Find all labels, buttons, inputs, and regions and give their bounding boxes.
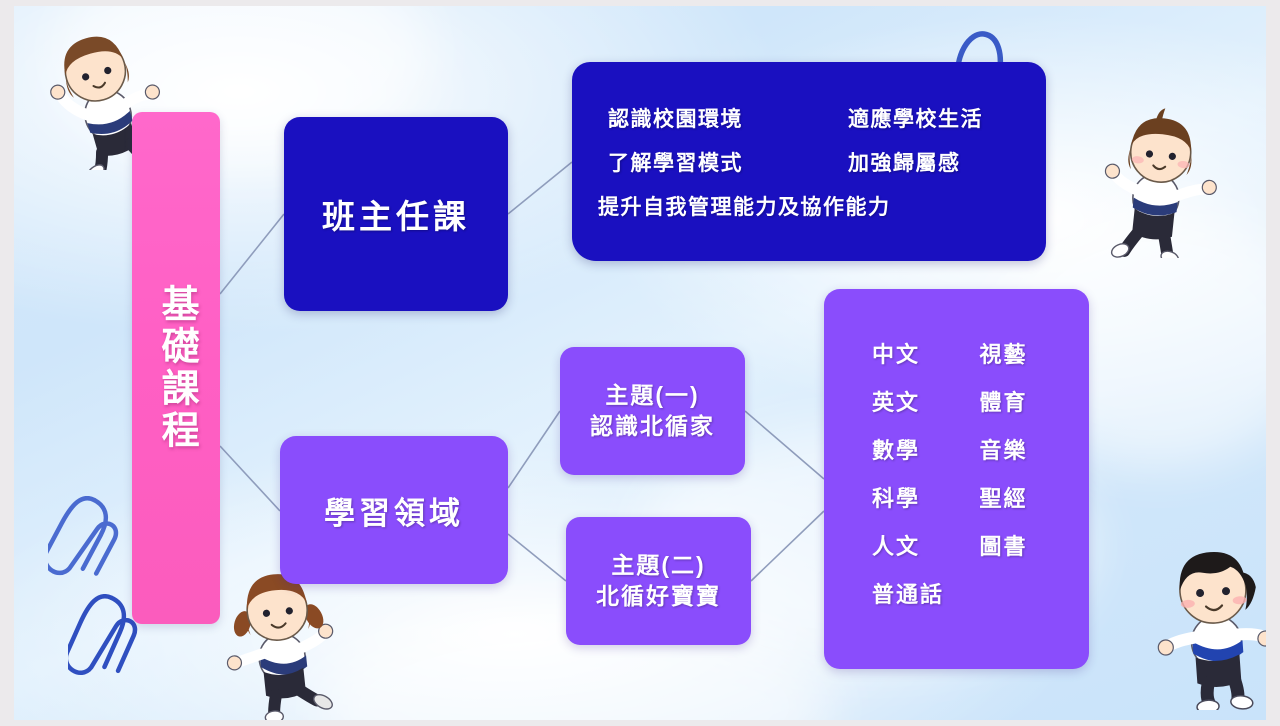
subject-row: 中文 視藝 bbox=[850, 337, 1063, 369]
homeroom-class-label: 班主任課 bbox=[322, 190, 470, 238]
subject-item: 中文 bbox=[850, 337, 956, 369]
objective-row-wide: 提升自我管理能力及協作能力 bbox=[578, 191, 1040, 221]
connector-root-to-homeroom bbox=[220, 214, 284, 294]
kid-boy-bottom-right bbox=[1152, 530, 1266, 710]
homeroom-objectives-panel[interactable]: 認識校園環境 適應學校生活 了解學習模式 加強歸屬感 提升自我管理能力及協作能力 bbox=[572, 62, 1046, 261]
subject-item: 數學 bbox=[850, 433, 956, 465]
subject-item: 人文 bbox=[850, 529, 956, 561]
objective-item: 認識校園環境 bbox=[588, 103, 848, 133]
objective-item: 加強歸屬感 bbox=[848, 147, 1030, 177]
subject-row: 英文 體育 bbox=[850, 385, 1063, 417]
subject-item: 聖經 bbox=[956, 481, 1064, 513]
subject-item: 普通話 bbox=[850, 577, 956, 609]
subjects-panel[interactable]: 中文 視藝 英文 體育 數學 音樂 科學 聖經 人文 圖書 普通話 bbox=[824, 289, 1089, 669]
connector-learning-to-theme1 bbox=[508, 411, 560, 488]
subject-item: 音樂 bbox=[956, 433, 1064, 465]
root-node-foundation-curriculum[interactable]: 基礎課程 bbox=[132, 112, 220, 624]
subject-row: 普通話 bbox=[850, 577, 1063, 609]
subject-item: 視藝 bbox=[956, 337, 1064, 369]
theme-two-subtitle: 北循好寶寶 bbox=[596, 581, 721, 612]
paperclip-left-upper-icon bbox=[48, 496, 126, 596]
subject-item: 體育 bbox=[956, 385, 1064, 417]
learning-areas-label: 學習領域 bbox=[324, 488, 464, 533]
connector-theme1-to-subjects bbox=[745, 411, 824, 479]
subject-row: 科學 聖經 bbox=[850, 481, 1063, 513]
connector-root-to-learning bbox=[220, 446, 280, 511]
connector-learning-to-theme2 bbox=[508, 534, 566, 581]
theme-one-subtitle: 認識北循家 bbox=[590, 411, 715, 442]
subject-item: 圖書 bbox=[956, 529, 1064, 561]
theme-one-heading: 主題(一) bbox=[605, 380, 699, 411]
slide-canvas: 基礎課程 班主任課 認識校園環境 適應學校生活 了解學習模式 加強歸屬感 提升自… bbox=[14, 6, 1266, 720]
subject-row: 人文 圖書 bbox=[850, 529, 1063, 561]
objective-item: 了解學習模式 bbox=[588, 147, 848, 177]
learning-areas-node[interactable]: 學習領域 bbox=[280, 436, 508, 584]
objective-item: 適應學校生活 bbox=[848, 103, 1030, 133]
theme-two-node[interactable]: 主題(二) 北循好寶寶 bbox=[566, 517, 751, 645]
connector-homeroom-to-detail bbox=[508, 162, 572, 214]
connector-theme2-to-subjects bbox=[751, 511, 824, 581]
objective-row: 了解學習模式 加強歸屬感 bbox=[588, 147, 1030, 177]
subject-item: 英文 bbox=[850, 385, 956, 417]
subject-item: 科學 bbox=[850, 481, 956, 513]
objective-item: 提升自我管理能力及協作能力 bbox=[598, 191, 891, 221]
root-node-label: 基礎課程 bbox=[153, 284, 199, 452]
homeroom-class-node[interactable]: 班主任課 bbox=[284, 117, 508, 311]
theme-two-heading: 主題(二) bbox=[611, 550, 705, 581]
subject-row: 數學 音樂 bbox=[850, 433, 1063, 465]
kid-boy-top-right bbox=[1096, 98, 1220, 258]
objective-row: 認識校園環境 適應學校生活 bbox=[588, 103, 1030, 133]
theme-one-node[interactable]: 主題(一) 認識北循家 bbox=[560, 347, 745, 475]
